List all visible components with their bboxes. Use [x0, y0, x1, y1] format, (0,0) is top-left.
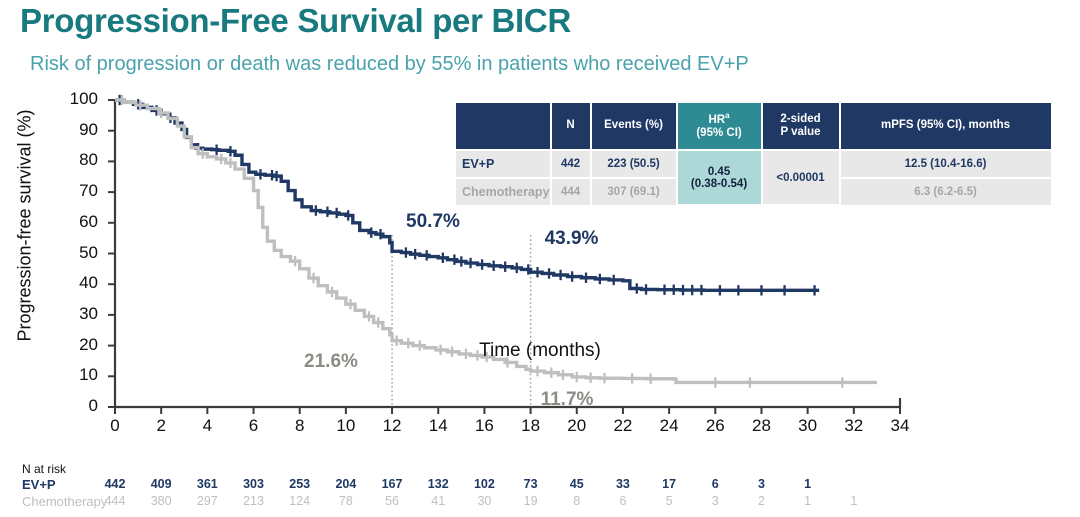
risk-value: 253 [284, 477, 316, 491]
risk-value: 303 [238, 477, 270, 491]
col-header-events: Events (%) [591, 103, 677, 150]
x-tick-label-18: 18 [516, 416, 546, 436]
risk-value: 3 [745, 477, 777, 491]
risk-value: 3 [699, 494, 731, 508]
risk-value: 213 [238, 494, 270, 508]
hr-confidence-interval: (0.38-0.54) [678, 178, 761, 190]
stats-table-row-evp: EV+P 442 223 (50.5) 0.45 (0.38-0.54) <0.… [456, 150, 1051, 178]
col-header-hr: HRa (95% CI) [677, 103, 762, 150]
col-header-mpfs: mPFS (95% CI), months [840, 103, 1051, 150]
risk-value: 444 [99, 494, 131, 508]
cell-mpfs-evp: 12.5 (10.4-16.6) [840, 150, 1051, 178]
y-tick-label-100: 100 [58, 89, 98, 109]
hr-ci-label: (95% CI) [696, 127, 741, 139]
page-subtitle: Risk of progression or death was reduced… [30, 53, 749, 76]
risk-value: 19 [515, 494, 547, 508]
x-tick-label-20: 20 [562, 416, 592, 436]
risk-value: 17 [653, 477, 685, 491]
cell-arm-chemo: Chemotherapy [456, 178, 551, 205]
risk-table-row-chemotherapy: Chemotherapy4443802972131247856413019865… [22, 494, 66, 511]
risk-value: 2 [745, 494, 777, 508]
x-tick-label-4: 4 [192, 416, 222, 436]
y-tick-label-90: 90 [58, 120, 98, 140]
risk-value: 56 [376, 494, 408, 508]
cell-events-chemo: 307 (69.1) [591, 178, 677, 205]
cell-mpfs-chemo: 6.3 (6.2-6.5) [840, 178, 1051, 205]
risk-value: 204 [330, 477, 362, 491]
x-tick-label-14: 14 [423, 416, 453, 436]
col-header-arm [456, 103, 551, 150]
col-header-pvalue: 2-sided P value [762, 103, 840, 150]
risk-value: 33 [607, 477, 639, 491]
risk-value: 45 [561, 477, 593, 491]
risk-value: 167 [376, 477, 408, 491]
risk-table-heading: N at risk [22, 462, 66, 476]
milestone-label-evp-18mo: 43.9% [545, 228, 599, 250]
risk-value: 73 [515, 477, 547, 491]
x-tick-label-34: 34 [885, 416, 915, 436]
risk-value: 102 [468, 477, 500, 491]
x-tick-label-8: 8 [285, 416, 315, 436]
y-tick-label-40: 40 [58, 273, 98, 293]
risk-value: 6 [607, 494, 639, 508]
cell-events-evp: 223 (50.5) [591, 150, 677, 178]
risk-value: 132 [422, 477, 454, 491]
x-tick-label-30: 30 [793, 416, 823, 436]
stats-table: N Events (%) HRa (95% CI) 2-sided P valu… [456, 103, 1051, 206]
risk-row-label-evp: EV+P [22, 477, 56, 492]
pvalue-label-line1: 2-sided [780, 113, 820, 125]
risk-row-label-chemotherapy: Chemotherapy [22, 494, 107, 509]
y-tick-label-0: 0 [58, 396, 98, 416]
risk-value: 8 [561, 494, 593, 508]
stats-table-header-row: N Events (%) HRa (95% CI) 2-sided P valu… [456, 103, 1051, 150]
risk-value: 1 [792, 494, 824, 508]
risk-value: 30 [468, 494, 500, 508]
cell-n-chemo: 444 [551, 178, 591, 205]
x-tick-label-2: 2 [146, 416, 176, 436]
x-tick-label-0: 0 [100, 416, 130, 436]
x-tick-label-16: 16 [469, 416, 499, 436]
y-tick-label-70: 70 [58, 181, 98, 201]
risk-value: 1 [838, 494, 870, 508]
hr-footnote-marker: a [725, 111, 729, 120]
y-tick-label-50: 50 [58, 243, 98, 263]
x-tick-label-12: 12 [377, 416, 407, 436]
y-tick-label-30: 30 [58, 304, 98, 324]
risk-value: 380 [145, 494, 177, 508]
risk-value: 78 [330, 494, 362, 508]
x-axis-label: Time (months) [430, 340, 650, 362]
risk-value: 442 [99, 477, 131, 491]
risk-table-row-evp: EV+P442409361303253204167132102734533176… [22, 477, 66, 494]
risk-value: 1 [792, 477, 824, 491]
pvalue-label-line2: P value [780, 126, 820, 138]
y-tick-label-10: 10 [58, 365, 98, 385]
x-tick-label-32: 32 [839, 416, 869, 436]
risk-value: 409 [145, 477, 177, 491]
hr-point-estimate: 0.45 [678, 166, 761, 178]
cell-arm-evp: EV+P [456, 150, 551, 178]
x-tick-label-10: 10 [331, 416, 361, 436]
risk-value: 41 [422, 494, 454, 508]
y-tick-label-20: 20 [58, 335, 98, 355]
milestone-label-evp-12mo: 50.7% [406, 211, 460, 233]
risk-value: 361 [191, 477, 223, 491]
x-tick-label-28: 28 [746, 416, 776, 436]
risk-table: N at risk EV+P44240936130325320416713210… [22, 462, 66, 511]
cell-hr: 0.45 (0.38-0.54) [677, 150, 762, 205]
y-tick-label-60: 60 [58, 212, 98, 232]
cell-n-evp: 442 [551, 150, 591, 178]
col-header-n: N [551, 103, 591, 150]
y-axis-label: Progression-free survival (%) [15, 61, 36, 391]
x-tick-label-6: 6 [239, 416, 269, 436]
cell-pvalue: <0.00001 [762, 150, 840, 205]
x-tick-label-26: 26 [700, 416, 730, 436]
page-title: Progression-Free Survival per BICR [20, 2, 571, 40]
hr-label: HR [708, 114, 725, 126]
risk-value: 6 [699, 477, 731, 491]
x-tick-label-22: 22 [608, 416, 638, 436]
risk-value: 5 [653, 494, 685, 508]
milestone-label-chemotherapy-12mo: 21.6% [304, 351, 358, 373]
y-tick-label-80: 80 [58, 150, 98, 170]
risk-value: 297 [191, 494, 223, 508]
milestone-label-chemotherapy-18mo: 11.7% [541, 389, 594, 411]
risk-value: 124 [284, 494, 316, 508]
x-tick-label-24: 24 [654, 416, 684, 436]
